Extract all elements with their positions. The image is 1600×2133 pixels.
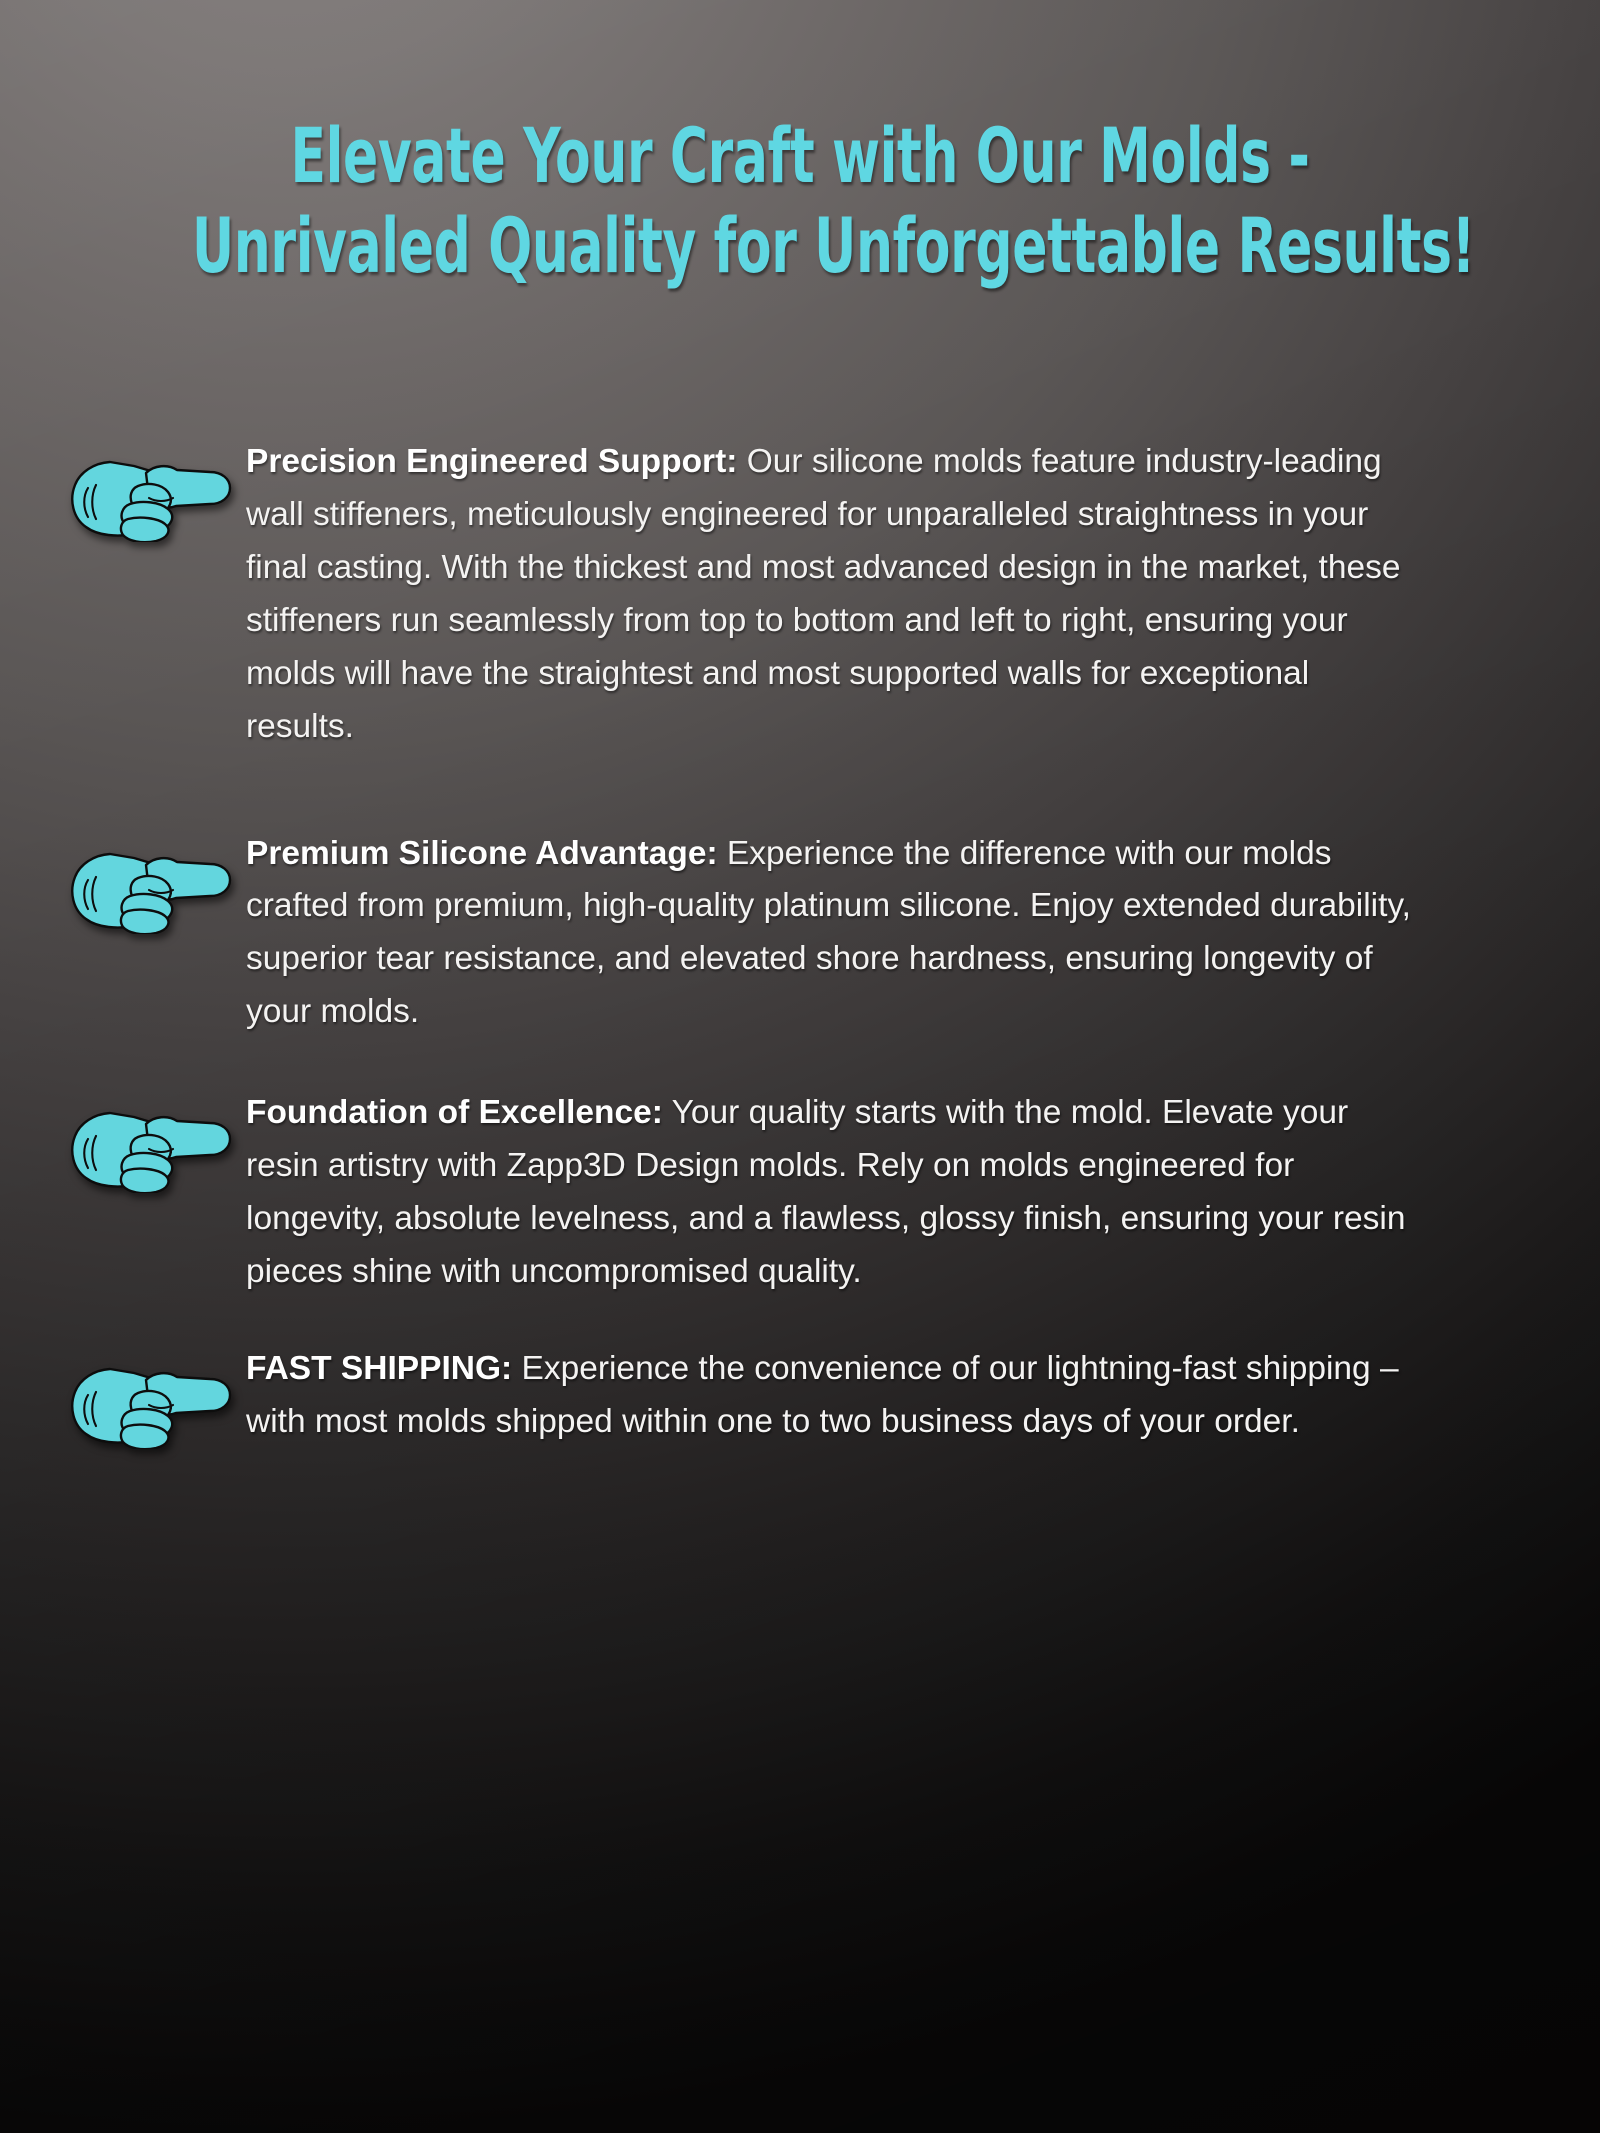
feature-item-fast-shipping: FAST SHIPPING: Experience the convenienc…	[50, 1343, 1540, 1449]
feature-label: FAST SHIPPING:	[246, 1350, 512, 1387]
page-title-line-1: Elevate Your Craft with Our Molds -	[192, 118, 1408, 194]
feature-text: Premium Silicone Advantage: Experience t…	[246, 828, 1426, 1040]
feature-text: FAST SHIPPING: Experience the convenienc…	[246, 1343, 1426, 1449]
feature-item-precision-engineered-support: Precision Engineered Support: Our silico…	[50, 436, 1540, 754]
feature-list: Precision Engineered Support: Our silico…	[0, 436, 1600, 1449]
feature-item-foundation-of-excellence: Foundation of Excellence: Your quality s…	[50, 1087, 1540, 1299]
feature-label: Premium Silicone Advantage:	[246, 835, 718, 872]
pointing-right-hand-icon	[50, 446, 236, 542]
page-title-line-2: Unrivaled Quality for Unforgettable Resu…	[192, 208, 1408, 284]
feature-label: Precision Engineered Support:	[246, 443, 737, 480]
page-title: Elevate Your Craft with Our Molds - Unri…	[192, 0, 1408, 284]
feature-text: Foundation of Excellence: Your quality s…	[246, 1087, 1426, 1299]
feature-label: Foundation of Excellence:	[246, 1094, 663, 1131]
pointing-right-hand-icon	[50, 838, 236, 934]
pointing-right-hand-icon	[50, 1353, 236, 1449]
pointing-right-hand-icon	[50, 1097, 236, 1193]
promo-page: Elevate Your Craft with Our Molds - Unri…	[0, 0, 1600, 2133]
feature-body: Our silicone molds feature industry-lead…	[246, 443, 1401, 745]
feature-text: Precision Engineered Support: Our silico…	[246, 436, 1426, 754]
feature-item-premium-silicone-advantage: Premium Silicone Advantage: Experience t…	[50, 828, 1540, 1040]
